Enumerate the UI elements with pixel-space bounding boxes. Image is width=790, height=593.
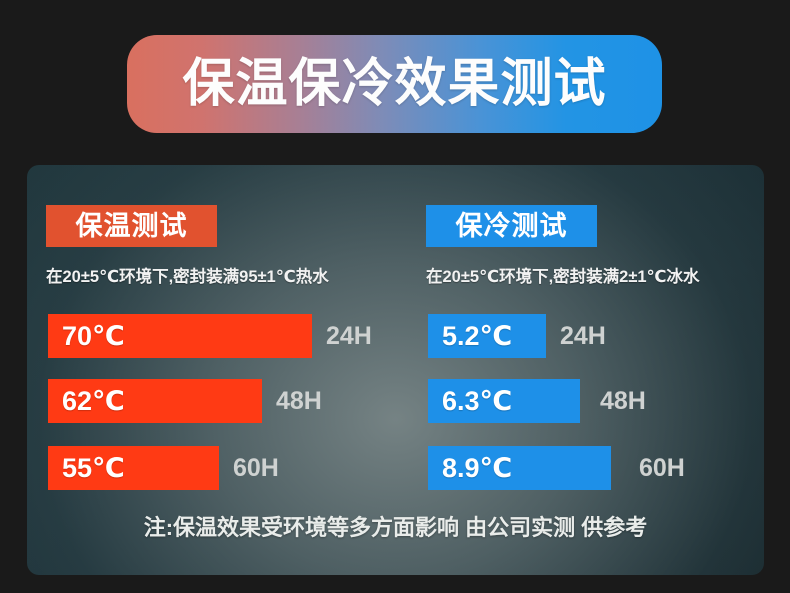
page-title: 保温保冷效果测试 (182, 58, 606, 110)
heat-retention-bar-24h: 70℃ (48, 314, 312, 358)
bar-row: 8.9℃ 60H (428, 446, 685, 490)
cold-retention-hours-60h: 60H (639, 456, 685, 481)
heat-retention-bar-60h: 55℃ (48, 446, 219, 490)
cold-retention-value-60h: 8.9℃ (428, 455, 512, 482)
heat-retention-header-label: 保温测试 (76, 213, 188, 240)
heat-retention-value-24h: 70℃ (48, 323, 125, 350)
bar-row: 5.2℃ 24H (428, 314, 606, 358)
cold-retention-header-chip: 保冷测试 (426, 205, 597, 247)
heat-retention-value-48h: 62℃ (48, 388, 125, 415)
heat-retention-hours-48h: 48H (276, 389, 322, 414)
heat-retention-hours-24h: 24H (326, 324, 372, 349)
cold-retention-hours-48h: 48H (600, 389, 646, 414)
cold-retention-value-24h: 5.2℃ (428, 323, 512, 350)
heat-retention-header-chip: 保温测试 (46, 205, 217, 247)
footer-note: 注:保温效果受环境等多方面影响 由公司实测 供参考 (27, 517, 764, 539)
cold-retention-value-48h: 6.3℃ (428, 388, 512, 415)
bar-row: 70℃ 24H (48, 314, 372, 358)
bar-row: 6.3℃ 48H (428, 379, 646, 423)
heat-retention-value-60h: 55℃ (48, 455, 125, 482)
cold-retention-condition-text: 在20±5℃环境下,密封装满2±1℃冰水 (426, 269, 700, 286)
page-title-banner: 保温保冷效果测试 (127, 35, 662, 133)
cold-retention-header-label: 保冷测试 (456, 213, 568, 240)
heat-retention-hours-60h: 60H (233, 456, 279, 481)
bar-row: 55℃ 60H (48, 446, 279, 490)
cold-retention-bar-24h: 5.2℃ (428, 314, 546, 358)
cold-retention-bar-48h: 6.3℃ (428, 379, 580, 423)
cold-retention-bar-60h: 8.9℃ (428, 446, 611, 490)
heat-retention-bar-48h: 62℃ (48, 379, 262, 423)
bar-row: 62℃ 48H (48, 379, 322, 423)
heat-retention-condition-text: 在20±5℃环境下,密封装满95±1℃热水 (46, 269, 329, 286)
test-results-panel: 保温测试 在20±5℃环境下,密封装满95±1℃热水 70℃ 24H 62℃ 4… (27, 165, 764, 575)
cold-retention-hours-24h: 24H (560, 324, 606, 349)
